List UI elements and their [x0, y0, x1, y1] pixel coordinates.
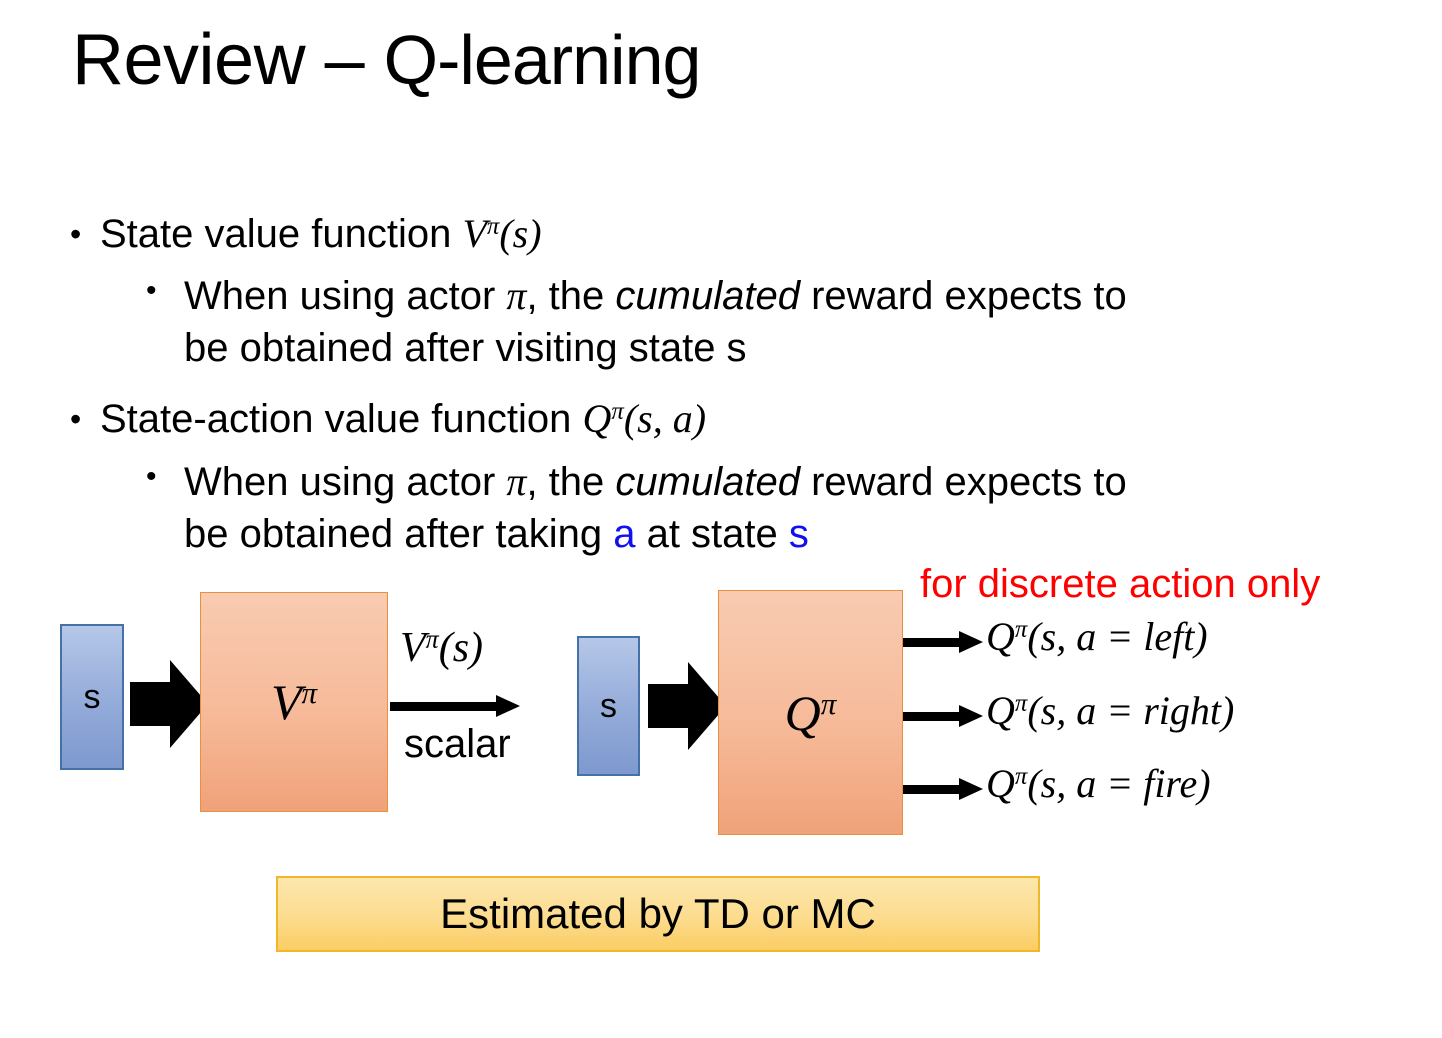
bullet-dot-icon: • [146, 271, 157, 310]
bullet-1-sub-text: When using actor π, the cumulated reward… [184, 270, 1276, 374]
bullet-dot-icon: • [146, 457, 157, 496]
state-symbol: s [789, 512, 809, 556]
v-function-label: Vπ [271, 673, 317, 731]
v-output-arrow-line [390, 702, 498, 711]
v-output-arrow-tip [496, 695, 520, 717]
v-input-state-label: s [84, 678, 101, 717]
q-input-state-label: s [600, 687, 617, 726]
v-arrow-shaft [130, 682, 172, 726]
v-input-state-box: s [60, 624, 124, 770]
discrete-action-note: for discrete action only [920, 562, 1320, 607]
q-arrow-shaft [648, 684, 690, 728]
bullet-dot-icon: • [70, 216, 100, 254]
v-output-caption: scalar [404, 722, 511, 767]
action-symbol: a [613, 512, 635, 556]
q-output-label-right: Qπ(s, a = right) [986, 687, 1234, 734]
v-output-formula: Vπ(s) [400, 624, 483, 672]
bullet-state-value-explanation: • When using actor π, the cumulated rewa… [146, 270, 1276, 374]
estimation-method-label: Estimated by TD or MC [440, 890, 876, 938]
bullet-state-action-explanation: • When using actor π, the cumulated rewa… [146, 456, 1276, 560]
q-output-arrow-3-line [903, 785, 961, 794]
q-output-arrow-2-tip [959, 705, 983, 727]
v-function-box: Vπ [200, 592, 388, 812]
v-input-arrow-icon [130, 660, 208, 748]
bullet-state-action-value-function: •State-action value function Qπ(s, a) [70, 395, 706, 443]
bullet-state-value-function: •State value function Vπ(s) [70, 210, 542, 258]
q-output-arrow-2-line [903, 712, 961, 721]
bullet-2-formula: Qπ(s, a) [583, 396, 707, 441]
q-output-arrow-1-tip [959, 631, 983, 653]
q-output-label-fire: Qπ(s, a = fire) [986, 760, 1211, 807]
bullet-2-label: State-action value function [100, 397, 583, 441]
bullet-2-sub-text: When using actor π, the cumulated reward… [184, 456, 1276, 560]
q-output-arrow-3-tip [959, 778, 983, 800]
estimation-method-banner: Estimated by TD or MC [276, 876, 1040, 952]
title-prefix: Review – [72, 20, 384, 100]
bullet-1-formula: Vπ(s) [462, 211, 541, 256]
page-title: Review – Q-learning [72, 24, 700, 96]
q-input-arrow-icon [648, 662, 724, 750]
bullet-dot-icon: • [70, 401, 100, 439]
q-input-state-box: s [577, 636, 640, 776]
q-output-label-left: Qπ(s, a = left) [986, 613, 1208, 660]
q-function-box: Qπ [718, 590, 903, 835]
slide-canvas: Review – Q-learning •State value functio… [0, 0, 1442, 1038]
bullet-1-label: State value function [100, 212, 462, 256]
title-topic: Q-learning [384, 21, 701, 99]
q-function-label: Qπ [785, 684, 837, 742]
q-output-arrow-1-line [903, 638, 961, 647]
